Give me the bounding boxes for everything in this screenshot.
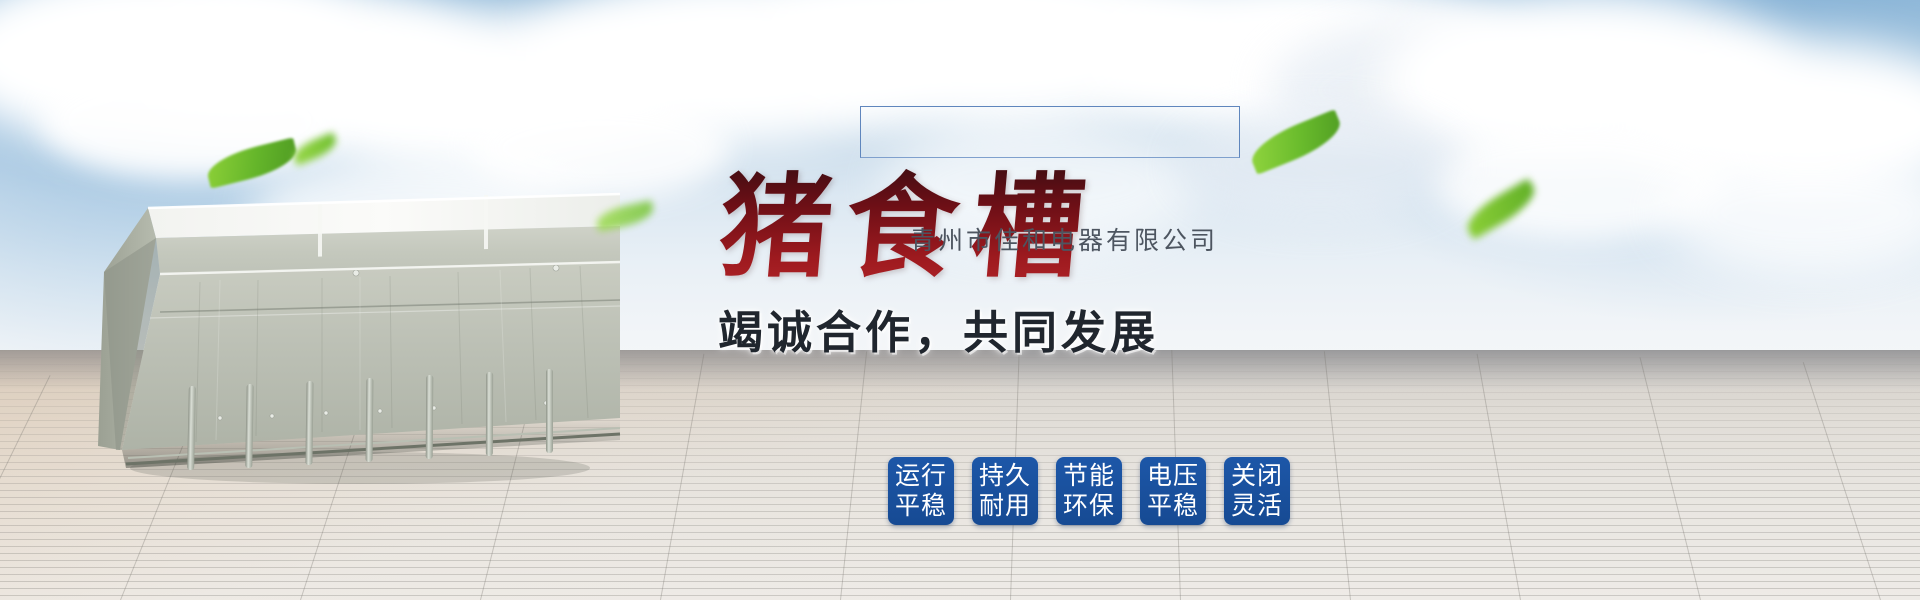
badge-line-2: 环保 [1063, 491, 1115, 521]
badge-line-2: 平稳 [1147, 491, 1199, 521]
company-name: 青州市佳和电器有限公司 [910, 221, 1350, 257]
product-image-pig-feeder-trough [60, 150, 620, 480]
badge-line-2: 耐用 [979, 491, 1031, 521]
badge-line-2: 灵活 [1231, 491, 1283, 521]
promo-banner: 猪食槽 猪食槽 青州市佳和电器有限公司 竭诚合作，共同发展 运行 平稳 持久 耐… [0, 0, 1920, 600]
feature-badge-row: 运行 平稳 持久 耐用 节能 环保 电压 平稳 关闭 灵活 [888, 457, 1290, 525]
badge-line-1: 运行 [895, 461, 947, 491]
feature-badge[interactable]: 节能 环保 [1056, 457, 1122, 525]
company-name-frame [860, 106, 1240, 158]
badge-line-1: 电压 [1147, 461, 1199, 491]
badge-line-2: 平稳 [895, 491, 947, 521]
feature-badge[interactable]: 持久 耐用 [972, 457, 1038, 525]
badge-line-1: 节能 [1063, 461, 1115, 491]
tagline: 竭诚合作，共同发展 [718, 296, 1338, 361]
feature-badge[interactable]: 关闭 灵活 [1224, 457, 1290, 525]
feature-badge[interactable]: 电压 平稳 [1140, 457, 1206, 525]
badge-line-1: 关闭 [1231, 461, 1283, 491]
feature-badge[interactable]: 运行 平稳 [888, 457, 954, 525]
badge-line-1: 持久 [979, 461, 1031, 491]
headline-block: 猪食槽 猪食槽 青州市佳和电器有限公司 竭诚合作，共同发展 [700, 96, 1340, 516]
